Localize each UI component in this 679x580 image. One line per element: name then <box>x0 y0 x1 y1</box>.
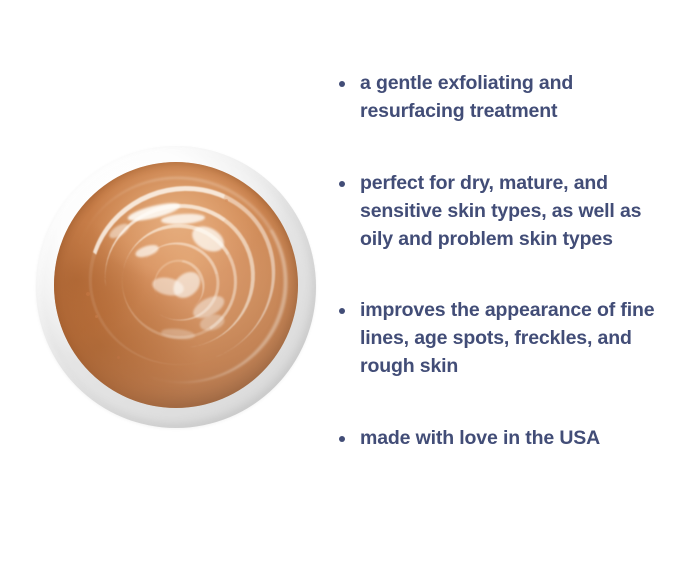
bullet-dot-icon <box>339 81 345 87</box>
product-image <box>36 146 316 428</box>
list-item: improves the appearance of fine lines, a… <box>336 297 672 381</box>
jar-body <box>36 146 316 428</box>
cream-fleck <box>225 199 228 202</box>
cream-surface <box>54 162 298 408</box>
feature-text: a gentle exfoliating and resurfacing tre… <box>360 70 672 126</box>
feature-list: a gentle exfoliating and resurfacing tre… <box>336 70 672 453</box>
list-item: a gentle exfoliating and resurfacing tre… <box>336 70 672 126</box>
feature-text: made with love in the USA <box>360 425 672 453</box>
bullet-dot-icon <box>339 308 345 314</box>
feature-text: perfect for dry, mature, and sensitive s… <box>360 170 672 254</box>
feature-text: improves the appearance of fine lines, a… <box>360 297 672 381</box>
list-item: perfect for dry, mature, and sensitive s… <box>336 170 672 254</box>
list-item: made with love in the USA <box>336 425 672 453</box>
product-feature-panel: a gentle exfoliating and resurfacing tre… <box>0 0 679 580</box>
cream-swirl <box>54 162 298 408</box>
bullet-dot-icon <box>339 436 345 442</box>
bullet-dot-icon <box>339 181 345 187</box>
